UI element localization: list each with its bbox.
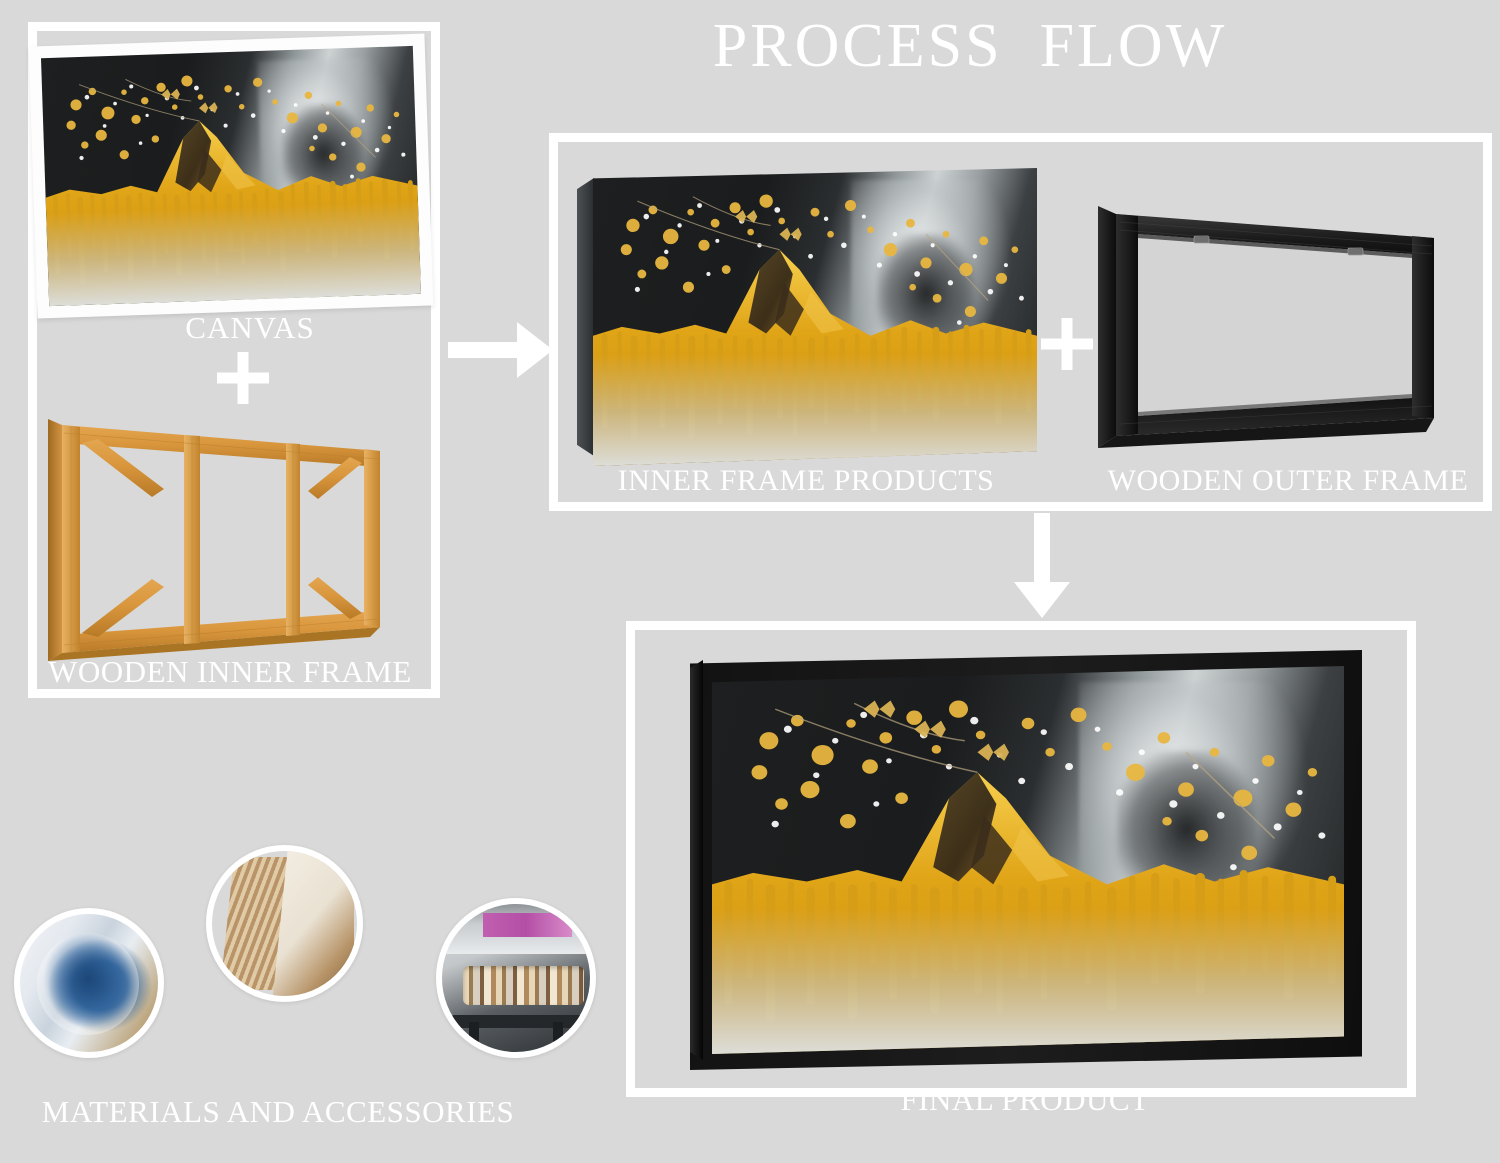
materials-and-accessories-label: MATERIALS AND ACCESSORIES xyxy=(38,1094,518,1130)
golden-mountain-painting xyxy=(712,666,1344,1054)
wooden-inner-frame-label: WOODEN INNER FRAME xyxy=(20,654,440,690)
page-title: PROCESS FLOW xyxy=(620,8,1320,86)
inner-frame-product-image xyxy=(577,168,1037,466)
arrow-shaft xyxy=(1034,513,1050,585)
canvas-roll-core xyxy=(37,933,139,1035)
arrow-shaft xyxy=(448,342,520,358)
golden-mountain-painting xyxy=(41,46,421,306)
arrow-head xyxy=(517,322,553,378)
final-product-image xyxy=(690,650,1362,1070)
material-printing-machine-photo xyxy=(436,898,596,1058)
inner-frame-products-label: INNER FRAME PRODUCTS xyxy=(566,464,1046,498)
mist-overlay xyxy=(593,323,1037,466)
plus-icon-canvas-frame xyxy=(217,352,269,404)
material-wood-board-photo xyxy=(206,845,363,1002)
process-flow-infographic: PROCESS FLOW xyxy=(0,0,1500,1163)
arrow-right-icon xyxy=(448,322,553,378)
plus-icon-product-outerframe xyxy=(1041,318,1093,370)
material-canvas-roll-photo xyxy=(14,908,164,1058)
wooden-outer-frame-image xyxy=(1090,192,1452,462)
printed-sheet xyxy=(483,913,572,937)
canvas-artwork-image xyxy=(29,34,434,319)
final-product-label: FINAL PRODUCT xyxy=(700,1082,1350,1118)
printed-roll xyxy=(463,966,584,1004)
golden-mountain-painting xyxy=(593,168,1037,466)
wooden-inner-frame-image xyxy=(40,405,422,670)
canvas-wrap-side-edge xyxy=(577,178,594,456)
frame-side-edge xyxy=(690,660,703,1060)
arrow-head xyxy=(1014,582,1070,618)
canvas-label: CANVAS xyxy=(60,310,440,346)
printer-leg-right xyxy=(553,1022,563,1049)
plus-vertical-bar xyxy=(238,352,249,404)
wooden-outer-frame-label: WOODEN OUTER FRAME xyxy=(1078,464,1498,498)
arrow-down-icon xyxy=(1014,513,1070,618)
mist-overlay xyxy=(712,868,1344,1054)
mist-overlay xyxy=(45,175,421,306)
printer-leg-left xyxy=(469,1022,479,1049)
plus-vertical-bar xyxy=(1062,318,1073,370)
